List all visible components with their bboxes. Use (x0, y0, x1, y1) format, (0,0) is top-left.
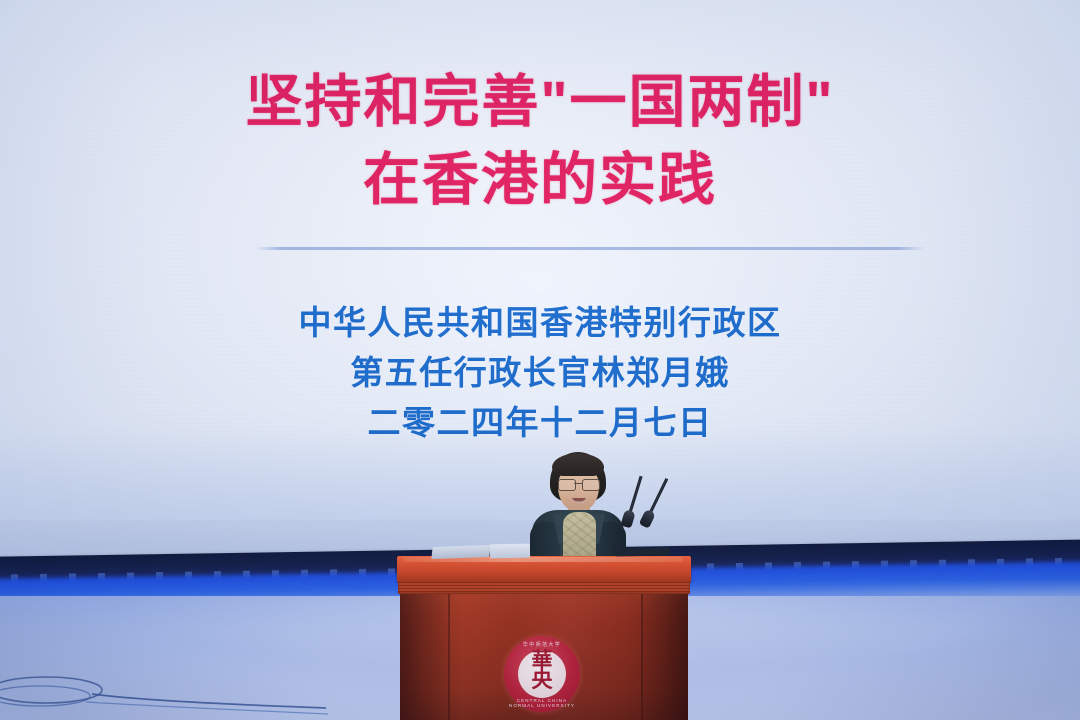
slide-title-line-2: 在香港的实践 (0, 142, 1080, 220)
podium-reeded-band (398, 582, 690, 594)
speech-notes-left (431, 545, 490, 559)
slide-subtitle: 中华人民共和国香港特别行政区 第五任行政长官林郑月娥 二零二四年十二月七日 (0, 298, 1080, 448)
speaker-glasses (558, 479, 600, 489)
slide-subtitle-line-1: 中华人民共和国香港特别行政区 (0, 298, 1080, 348)
emblem-glyph-bottom: 央 (518, 668, 566, 720)
glasses-lens-left (558, 479, 576, 491)
podium-seam-left (448, 594, 450, 720)
lectern-podium: 华中师范大学 CENTRAL CHINA NORMAL UNIVERSITY 華… (398, 556, 690, 720)
slide-title: 坚持和完善"一国两制" 在香港的实践 (0, 0, 1080, 219)
slide-content: 坚持和完善"一国两制" 在香港的实践 (0, 0, 1080, 219)
emblem-chinese-name: 华中师范大学 (504, 641, 580, 648)
microphone-base-plate (614, 548, 670, 557)
slide-title-line-1: 坚持和完善"一国两制" (0, 64, 1080, 142)
speaker-hair-fringe (552, 454, 604, 476)
coiled-audio-cable (0, 672, 328, 718)
speech-notes-right (490, 544, 530, 559)
slide-subtitle-line-2: 第五任行政长官林郑月娥 (0, 348, 1080, 398)
conference-stage-photograph: 坚持和完善"一国两制" 在香港的实践 中华人民共和国香港特别行政区 第五任行政长… (0, 0, 1080, 720)
university-emblem: 华中师范大学 CENTRAL CHINA NORMAL UNIVERSITY 華… (504, 636, 580, 712)
glasses-lens-right (582, 479, 600, 491)
podium-top-slab (397, 556, 691, 582)
podium-side-left (400, 594, 448, 720)
podium-side-right (642, 594, 688, 720)
glasses-bridge (574, 483, 582, 484)
slide-divider-rule (255, 247, 925, 250)
slide-subtitle-line-3: 二零二四年十二月七日 (0, 398, 1080, 448)
